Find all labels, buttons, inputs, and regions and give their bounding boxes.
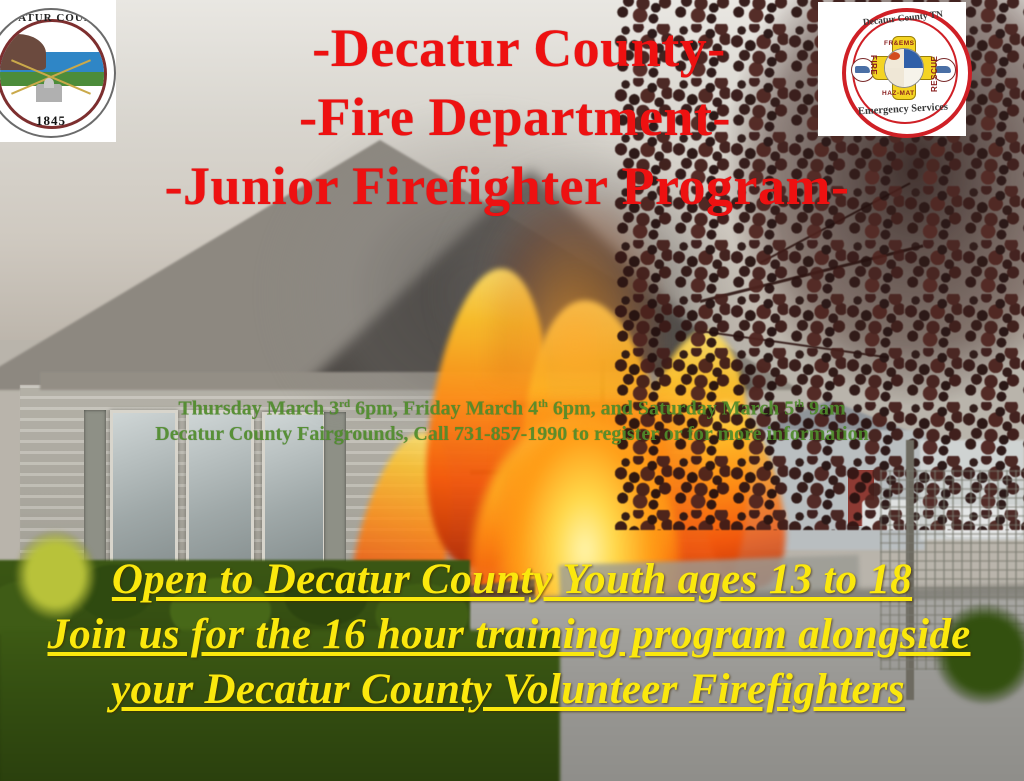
- schedule-part-saturday: 6pm, and Saturday March 5: [548, 398, 794, 420]
- cross-label-hazmat: HAZ-MAT: [882, 90, 915, 97]
- emblem-quadrant: [885, 68, 904, 87]
- ordinal-suffix: th: [538, 398, 548, 410]
- event-schedule-line: Thursday March 3rd 6pm, Friday March 4th…: [0, 392, 1024, 422]
- emblem-quadrant: ✶: [904, 49, 923, 68]
- headline-line-program: -Junior Firefighter Program-: [0, 152, 1024, 221]
- event-details: Thursday March 3rd 6pm, Friday March 4th…: [0, 392, 1024, 447]
- ordinal-suffix: th: [794, 398, 804, 410]
- flame-emblem-icon: [888, 52, 900, 60]
- cta-line-training: Join us for the 16 hour training program…: [0, 607, 1024, 662]
- schedule-part-friday: 6pm, Friday March 4: [350, 398, 538, 420]
- event-location-contact-line: Decatur County Fairgrounds, Call 731-857…: [0, 422, 1024, 447]
- cta-line-volunteers: your Decatur County Volunteer Firefighte…: [0, 662, 1024, 717]
- headline-line-department: -Fire Department-: [0, 83, 1024, 152]
- call-to-action: Open to Decatur County Youth ages 13 to …: [0, 552, 1024, 717]
- cross-center-emblem: ✶: [884, 48, 924, 88]
- cross-label-fire: FIRE: [869, 55, 878, 75]
- ordinal-suffix: rd: [339, 398, 350, 410]
- cta-line-eligibility: Open to Decatur County Youth ages 13 to …: [0, 552, 1024, 607]
- emblem-quadrant: [904, 68, 923, 87]
- schedule-part-thursday: Thursday March 3: [178, 398, 339, 420]
- junior-firefighter-program-flyer: DECATUR COUNTY 1845 Decatur County TN FI…: [0, 0, 1024, 781]
- cross-label-rescue: RESCUE: [930, 56, 939, 92]
- cross-label-ems: FR&EMS: [884, 40, 914, 47]
- emblem-quadrant: [885, 49, 904, 68]
- schedule-part-time: 9am: [804, 398, 846, 420]
- poster-headline: -Decatur County- -Fire Department- -Juni…: [0, 14, 1024, 221]
